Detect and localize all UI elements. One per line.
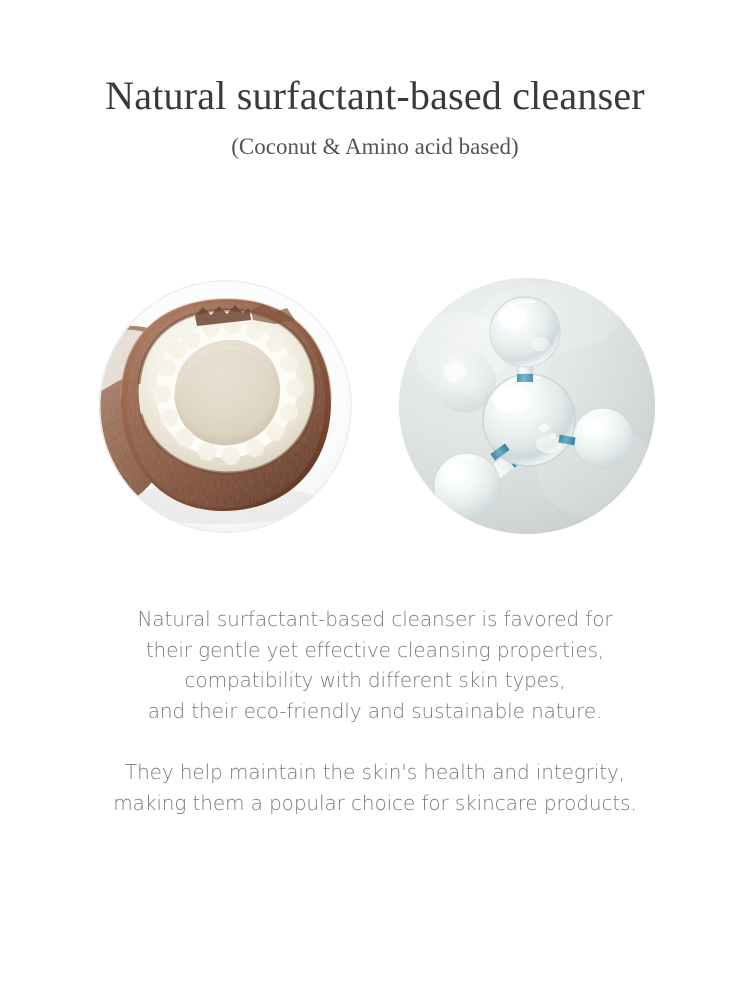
coconut-image-circle (99, 280, 352, 533)
description-paragraph-1: Natural surfactant-based cleanser is fav… (0, 604, 750, 726)
page-header: Natural surfactant-based cleanser (Cocon… (0, 72, 750, 162)
paragraph-2-line-2: making them a popular choice for skincar… (0, 788, 750, 819)
description-block: Natural surfactant-based cleanser is fav… (0, 604, 750, 818)
paragraph-2-line-1: They help maintain the skin's health and… (0, 757, 750, 788)
ingredient-image-row (0, 278, 750, 536)
page-subtitle: (Coconut & Amino acid based) (0, 132, 750, 162)
molecule-image-circle (399, 278, 655, 534)
product-info-page: Natural surfactant-based cleanser (Cocon… (0, 0, 750, 1000)
description-paragraph-2: They help maintain the skin's health and… (0, 757, 750, 818)
paragraph-1-line-4: and their eco-friendly and sustainable n… (0, 696, 750, 727)
paragraph-1-line-1: Natural surfactant-based cleanser is fav… (0, 604, 750, 635)
paragraph-1-line-3: compatibility with different skin types, (0, 665, 750, 696)
coconut-illustration (99, 280, 352, 533)
paragraph-1-line-2: their gentle yet effective cleansing pro… (0, 635, 750, 666)
page-title: Natural surfactant-based cleanser (0, 72, 750, 120)
molecule-illustration (399, 278, 655, 534)
